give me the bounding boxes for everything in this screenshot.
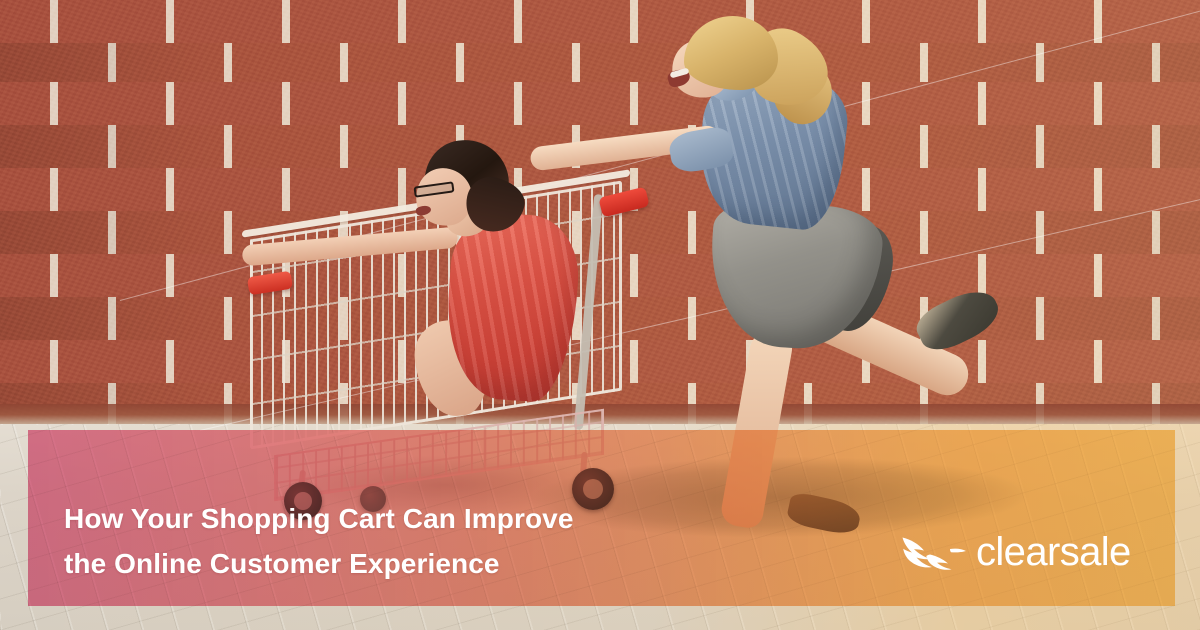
page-title: How Your Shopping Cart Can Improve the O… [64, 496, 704, 586]
headline-line-2: the Online Customer Experience [64, 541, 704, 586]
swallow-bird-icon [900, 532, 966, 572]
pusher-hair [684, 16, 778, 90]
headline-line-1: How Your Shopping Cart Can Improve [64, 496, 704, 541]
clearsale-wordmark: clearsale [976, 532, 1131, 572]
rider-woman [392, 140, 612, 430]
hero-banner: How Your Shopping Cart Can Improve the O… [0, 0, 1200, 630]
clearsale-logo[interactable]: clearsale [900, 524, 1131, 580]
